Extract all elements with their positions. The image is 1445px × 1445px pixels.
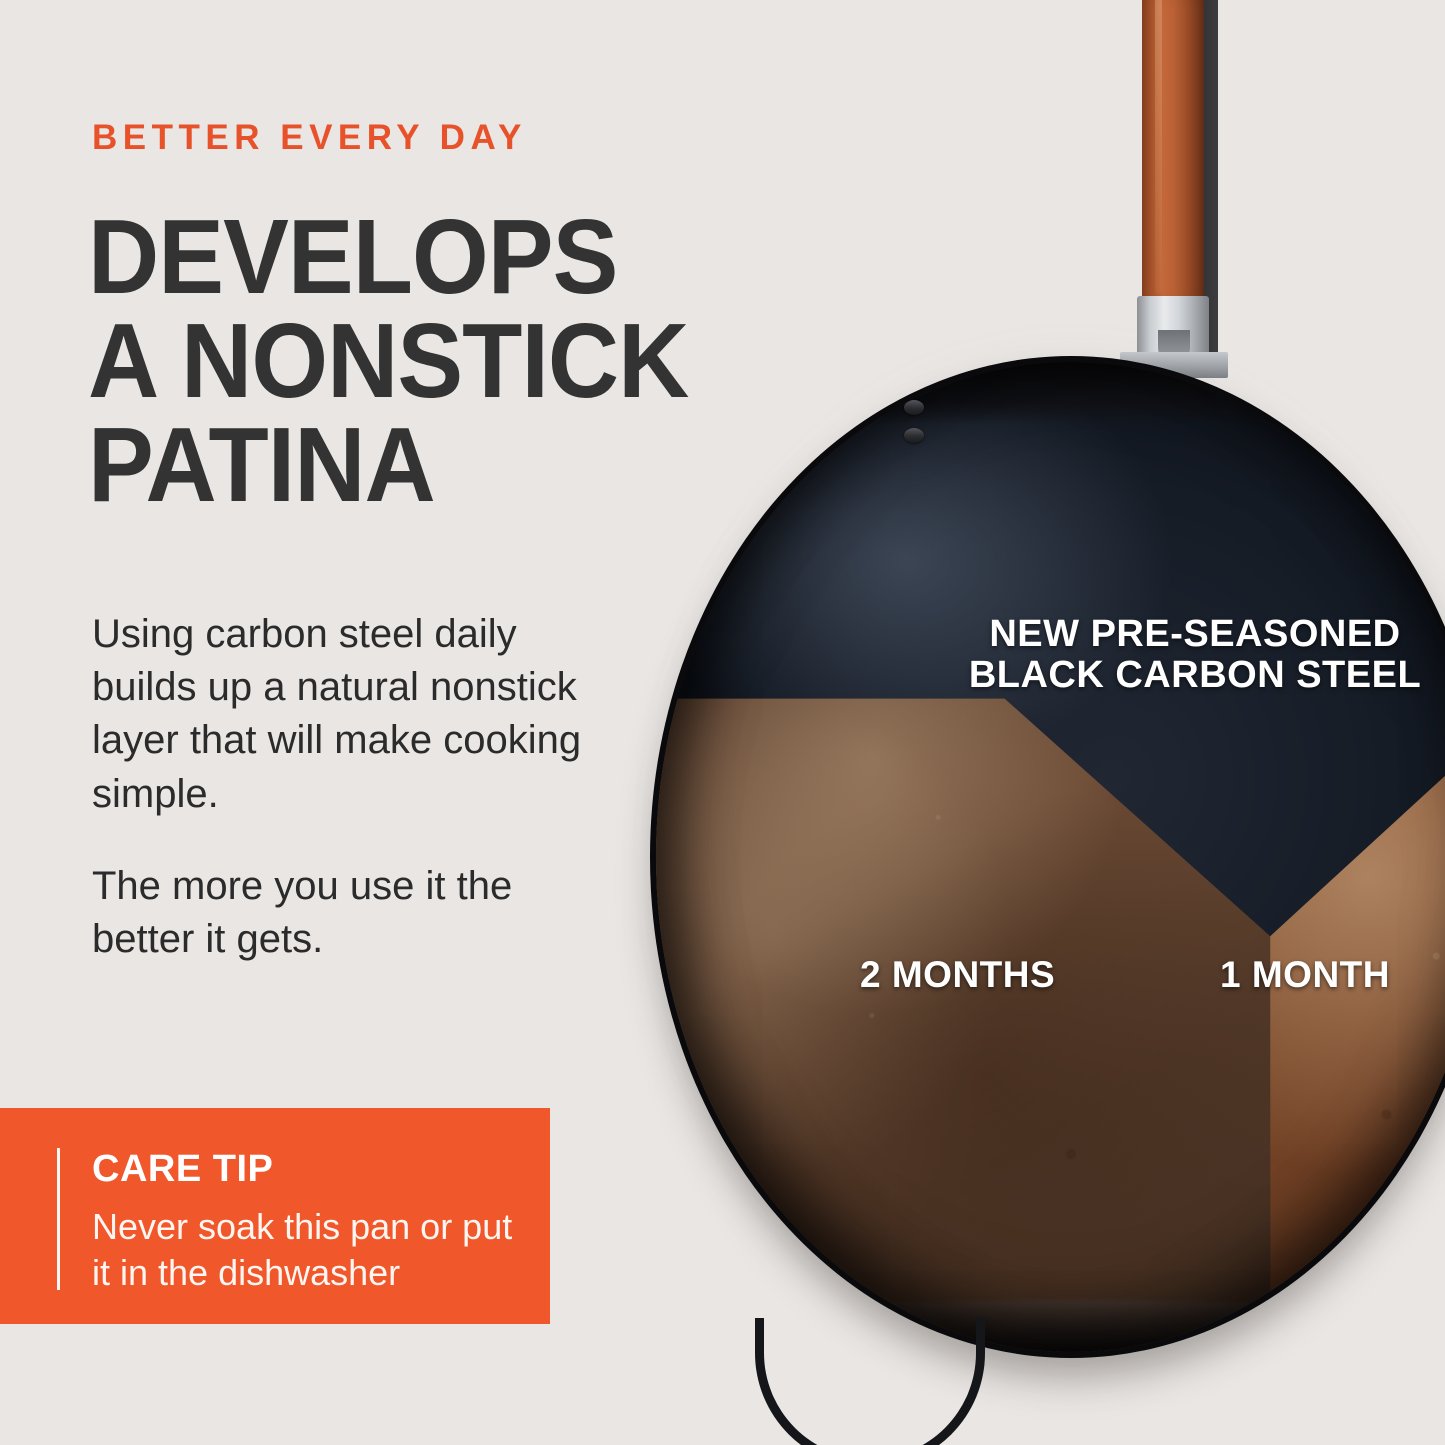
rim-rivet [783,430,803,445]
wire-helper-handle [755,1318,985,1445]
pan-rim-top [656,362,1445,424]
product-photo: NEW PRE-SEASONED BLACK CARBON STEEL 2 MO… [560,0,1445,1445]
care-tip-divider-rule [57,1148,60,1290]
pan-body [656,362,1445,1352]
rim-rivet [904,428,924,443]
care-tip-callout: CARE TIP Never soak this pan or put it i… [0,1108,550,1324]
body-paragraph-1: Using carbon steel daily builds up a nat… [92,608,612,821]
label-1-month: 1 MONTH [1220,955,1390,995]
body-paragraph-2: The more you use it the better it gets. [92,860,612,966]
eyebrow-text: BETTER EVERY DAY [92,120,527,155]
care-tip-title: CARE TIP [92,1150,273,1188]
label-2-months: 2 MONTHS [860,955,1055,995]
rim-rivet [786,402,806,417]
label-new-pre-seasoned: NEW PRE-SEASONED BLACK CARBON STEEL [960,614,1430,696]
wooden-handle [1142,0,1204,308]
rim-rivet [904,400,924,415]
product-feature-graphic: BETTER EVERY DAY DEVELOPS A NONSTICK PAT… [0,0,1445,1445]
care-tip-body: Never soak this pan or put it in the dis… [92,1204,522,1296]
